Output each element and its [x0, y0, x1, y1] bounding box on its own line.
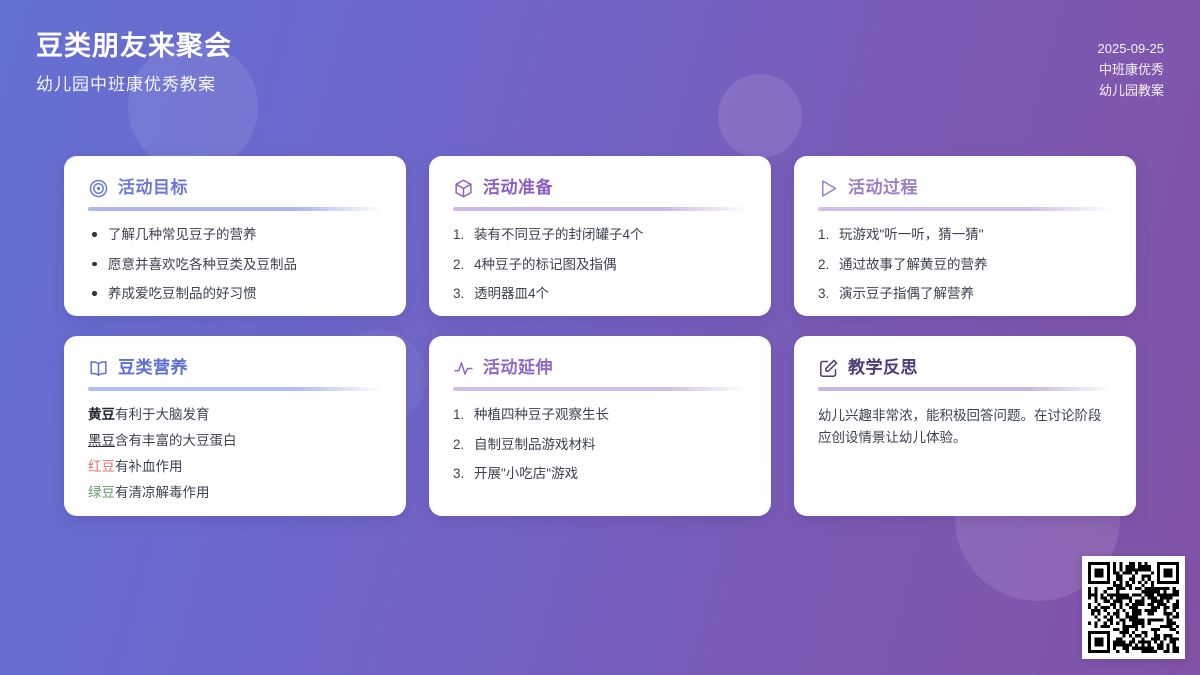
meta-category: 中班康优秀 — [1098, 59, 1165, 80]
list-item: 通过故事了解黄豆的营养 — [818, 255, 1112, 275]
card-header: 教学反思 — [818, 358, 1112, 379]
bean-keyword: 黄豆 — [88, 407, 115, 422]
card-header: 豆类营养 — [88, 358, 382, 379]
list-item: 透明器皿4个 — [453, 284, 747, 304]
list-item: 绿豆有清凉解毒作用 — [88, 483, 382, 503]
card-body: 种植四种豆子观察生长自制豆制品游戏材料开展"小吃店"游戏 — [453, 405, 747, 484]
card-title: 活动准备 — [483, 179, 553, 198]
bullet-list: 了解几种常见豆子的营养愿意并喜欢吃各种豆类及豆制品养成爱吃豆制品的好习惯 — [88, 225, 382, 304]
bean-description: 含有丰富的大豆蛋白 — [115, 433, 237, 448]
nutrition-list: 黄豆有利于大脑发育黑豆含有丰富的大豆蛋白红豆有补血作用绿豆有清凉解毒作用 — [88, 405, 382, 503]
card-rule — [453, 387, 747, 391]
card-body: 装有不同豆子的封闭罐子4个4种豆子的标记图及指偶透明器皿4个 — [453, 225, 747, 304]
card-teaching-reflection: 教学反思幼儿兴趣非常浓，能积极回答问题。在讨论阶段应创设情景让幼儿体验。 — [794, 336, 1136, 516]
card-body: 幼儿兴趣非常浓，能积极回答问题。在讨论阶段应创设情景让幼儿体验。 — [818, 405, 1112, 448]
card-title: 活动延伸 — [483, 359, 553, 378]
qr-code[interactable] — [1082, 556, 1185, 659]
page-subtitle: 幼儿园中班康优秀教案 — [36, 75, 232, 95]
bean-description: 有清凉解毒作用 — [115, 485, 210, 500]
card-activity-goals: 活动目标了解几种常见豆子的营养愿意并喜欢吃各种豆类及豆制品养成爱吃豆制品的好习惯 — [64, 156, 406, 316]
card-rule — [818, 387, 1112, 391]
list-item: 种植四种豆子观察生长 — [453, 405, 747, 425]
card-title: 活动目标 — [118, 179, 188, 198]
reflection-text: 幼儿兴趣非常浓，能积极回答问题。在讨论阶段应创设情景让幼儿体验。 — [818, 405, 1112, 448]
box-icon — [453, 178, 474, 199]
card-rule — [88, 387, 382, 391]
list-item: 黑豆含有丰富的大豆蛋白 — [88, 431, 382, 451]
card-header: 活动准备 — [453, 178, 747, 199]
edit-square-icon — [818, 358, 839, 379]
card-header: 活动过程 — [818, 178, 1112, 199]
card-rule — [88, 207, 382, 211]
page-title: 豆类朋友来聚会 — [36, 30, 232, 62]
list-item: 装有不同豆子的封闭罐子4个 — [453, 225, 747, 245]
card-title: 活动过程 — [848, 179, 918, 198]
list-item: 红豆有补血作用 — [88, 457, 382, 477]
list-item: 4种豆子的标记图及指偶 — [453, 255, 747, 275]
numbered-list: 玩游戏"听一听，猜一猜"通过故事了解黄豆的营养演示豆子指偶了解营养 — [818, 225, 1112, 304]
play-icon — [818, 178, 839, 199]
list-item: 开展"小吃店"游戏 — [453, 464, 747, 484]
card-grid: 活动目标了解几种常见豆子的营养愿意并喜欢吃各种豆类及豆制品养成爱吃豆制品的好习惯… — [64, 156, 1136, 516]
card-header: 活动延伸 — [453, 358, 747, 379]
card-rule — [818, 207, 1112, 211]
card-activity-preparation: 活动准备装有不同豆子的封闭罐子4个4种豆子的标记图及指偶透明器皿4个 — [429, 156, 771, 316]
list-item: 玩游戏"听一听，猜一猜" — [818, 225, 1112, 245]
list-item: 自制豆制品游戏材料 — [453, 435, 747, 455]
bean-keyword: 黑豆 — [88, 433, 115, 448]
book-icon — [88, 358, 109, 379]
list-item: 演示豆子指偶了解营养 — [818, 284, 1112, 304]
card-activity-process: 活动过程玩游戏"听一听，猜一猜"通过故事了解黄豆的营养演示豆子指偶了解营养 — [794, 156, 1136, 316]
card-header: 活动目标 — [88, 178, 382, 199]
card-body: 了解几种常见豆子的营养愿意并喜欢吃各种豆类及豆制品养成爱吃豆制品的好习惯 — [88, 225, 382, 304]
card-bean-nutrition: 豆类营养黄豆有利于大脑发育黑豆含有丰富的大豆蛋白红豆有补血作用绿豆有清凉解毒作用 — [64, 336, 406, 516]
meta-date: 2025-09-25 — [1098, 38, 1165, 59]
header-left: 豆类朋友来聚会 幼儿园中班康优秀教案 — [36, 30, 232, 96]
card-body: 黄豆有利于大脑发育黑豆含有丰富的大豆蛋白红豆有补血作用绿豆有清凉解毒作用 — [88, 405, 382, 503]
list-item: 黄豆有利于大脑发育 — [88, 405, 382, 425]
slide-root: 豆类朋友来聚会 幼儿园中班康优秀教案 2025-09-25 中班康优秀 幼儿园教… — [0, 0, 1200, 675]
card-title: 教学反思 — [848, 359, 918, 378]
bean-description: 有利于大脑发育 — [115, 407, 210, 422]
qr-code-icon — [1088, 562, 1179, 653]
pulse-icon — [453, 358, 474, 379]
list-item: 了解几种常见豆子的营养 — [88, 225, 382, 245]
card-activity-extension: 活动延伸种植四种豆子观察生长自制豆制品游戏材料开展"小吃店"游戏 — [429, 336, 771, 516]
bean-keyword: 绿豆 — [88, 485, 115, 500]
card-title: 豆类营养 — [118, 359, 188, 378]
bean-description: 有补血作用 — [115, 459, 183, 474]
bean-keyword: 红豆 — [88, 459, 115, 474]
header-meta: 2025-09-25 中班康优秀 幼儿园教案 — [1098, 30, 1165, 101]
numbered-list: 装有不同豆子的封闭罐子4个4种豆子的标记图及指偶透明器皿4个 — [453, 225, 747, 304]
card-body: 玩游戏"听一听，猜一猜"通过故事了解黄豆的营养演示豆子指偶了解营养 — [818, 225, 1112, 304]
meta-doctype: 幼儿园教案 — [1098, 80, 1165, 101]
numbered-list: 种植四种豆子观察生长自制豆制品游戏材料开展"小吃店"游戏 — [453, 405, 747, 484]
card-rule — [453, 207, 747, 211]
target-icon — [88, 178, 109, 199]
slide-header: 豆类朋友来聚会 幼儿园中班康优秀教案 2025-09-25 中班康优秀 幼儿园教… — [0, 0, 1200, 132]
list-item: 养成爱吃豆制品的好习惯 — [88, 284, 382, 304]
list-item: 愿意并喜欢吃各种豆类及豆制品 — [88, 255, 382, 275]
